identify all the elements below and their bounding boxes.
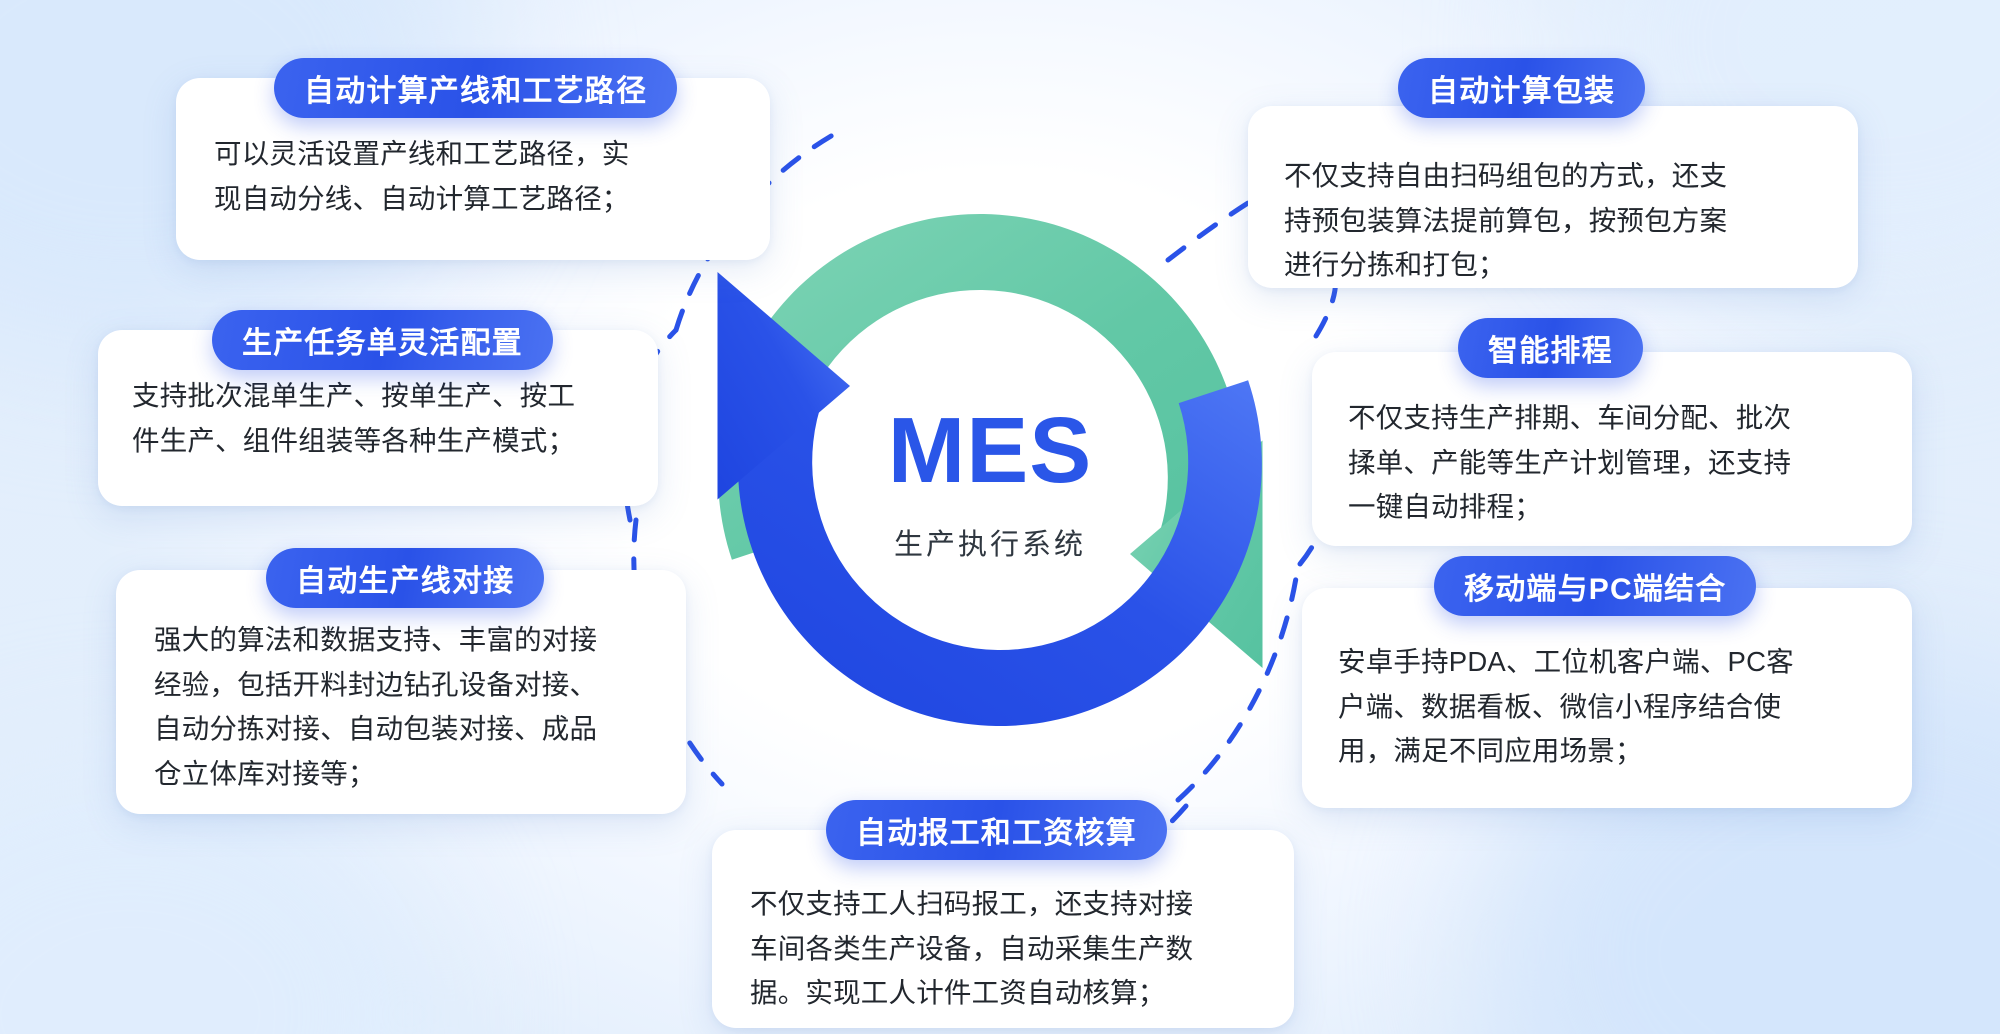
feature-title-mobile-pc-combination[interactable]: 移动端与PC端结合 [1434, 556, 1756, 616]
feature-card-body: 可以灵活设置产线和工艺路径，实 现自动分线、自动计算工艺路径； [214, 132, 736, 221]
feature-title-auto-packaging[interactable]: 自动计算包装 [1398, 58, 1645, 118]
feature-title-auto-reporting-payroll[interactable]: 自动报工和工资核算 [826, 800, 1167, 860]
feature-card-body: 强大的算法和数据支持、丰富的对接 经验，包括开料封边钻孔设备对接、 自动分拣对接… [154, 618, 658, 796]
feature-title-smart-scheduling[interactable]: 智能排程 [1458, 318, 1643, 378]
feature-title-task-order-config[interactable]: 生产任务单灵活配置 [212, 310, 553, 370]
infographic-canvas: MES 生产执行系统 可以灵活设置产线和工艺路径，实 现自动分线、自动计算工艺路… [0, 0, 2000, 1034]
feature-card-auto-packaging: 不仅支持自由扫码组包的方式，还支 持预包装算法提前算包，按预包方案 进行分拣和打… [1248, 106, 1858, 288]
feature-card-mobile-pc-combination: 安卓手持PDA、工位机客户端、PC客 户端、数据看板、微信小程序结合使 用，满足… [1302, 588, 1912, 808]
feature-card-body: 不仅支持生产排期、车间分配、批次 揉单、产能等生产计划管理，还支持 一键自动排程… [1348, 396, 1884, 530]
feature-card-smart-scheduling: 不仅支持生产排期、车间分配、批次 揉单、产能等生产计划管理，还支持 一键自动排程… [1312, 352, 1912, 546]
feature-card-body: 安卓手持PDA、工位机客户端、PC客 户端、数据看板、微信小程序结合使 用，满足… [1338, 640, 1882, 774]
feature-title-auto-line-integration[interactable]: 自动生产线对接 [266, 548, 544, 608]
feature-card-body: 不仅支持工人扫码报工，还支持对接 车间各类生产设备，自动采集生产数 据。实现工人… [750, 882, 1264, 1016]
feature-card-body: 支持批次混单生产、按单生产、按工 件生产、组件组装等各种生产模式； [132, 374, 628, 463]
feature-card-body: 不仅支持自由扫码组包的方式，还支 持预包装算法提前算包，按预包方案 进行分拣和打… [1284, 154, 1828, 288]
feature-title-auto-production-line-route[interactable]: 自动计算产线和工艺路径 [274, 58, 677, 118]
